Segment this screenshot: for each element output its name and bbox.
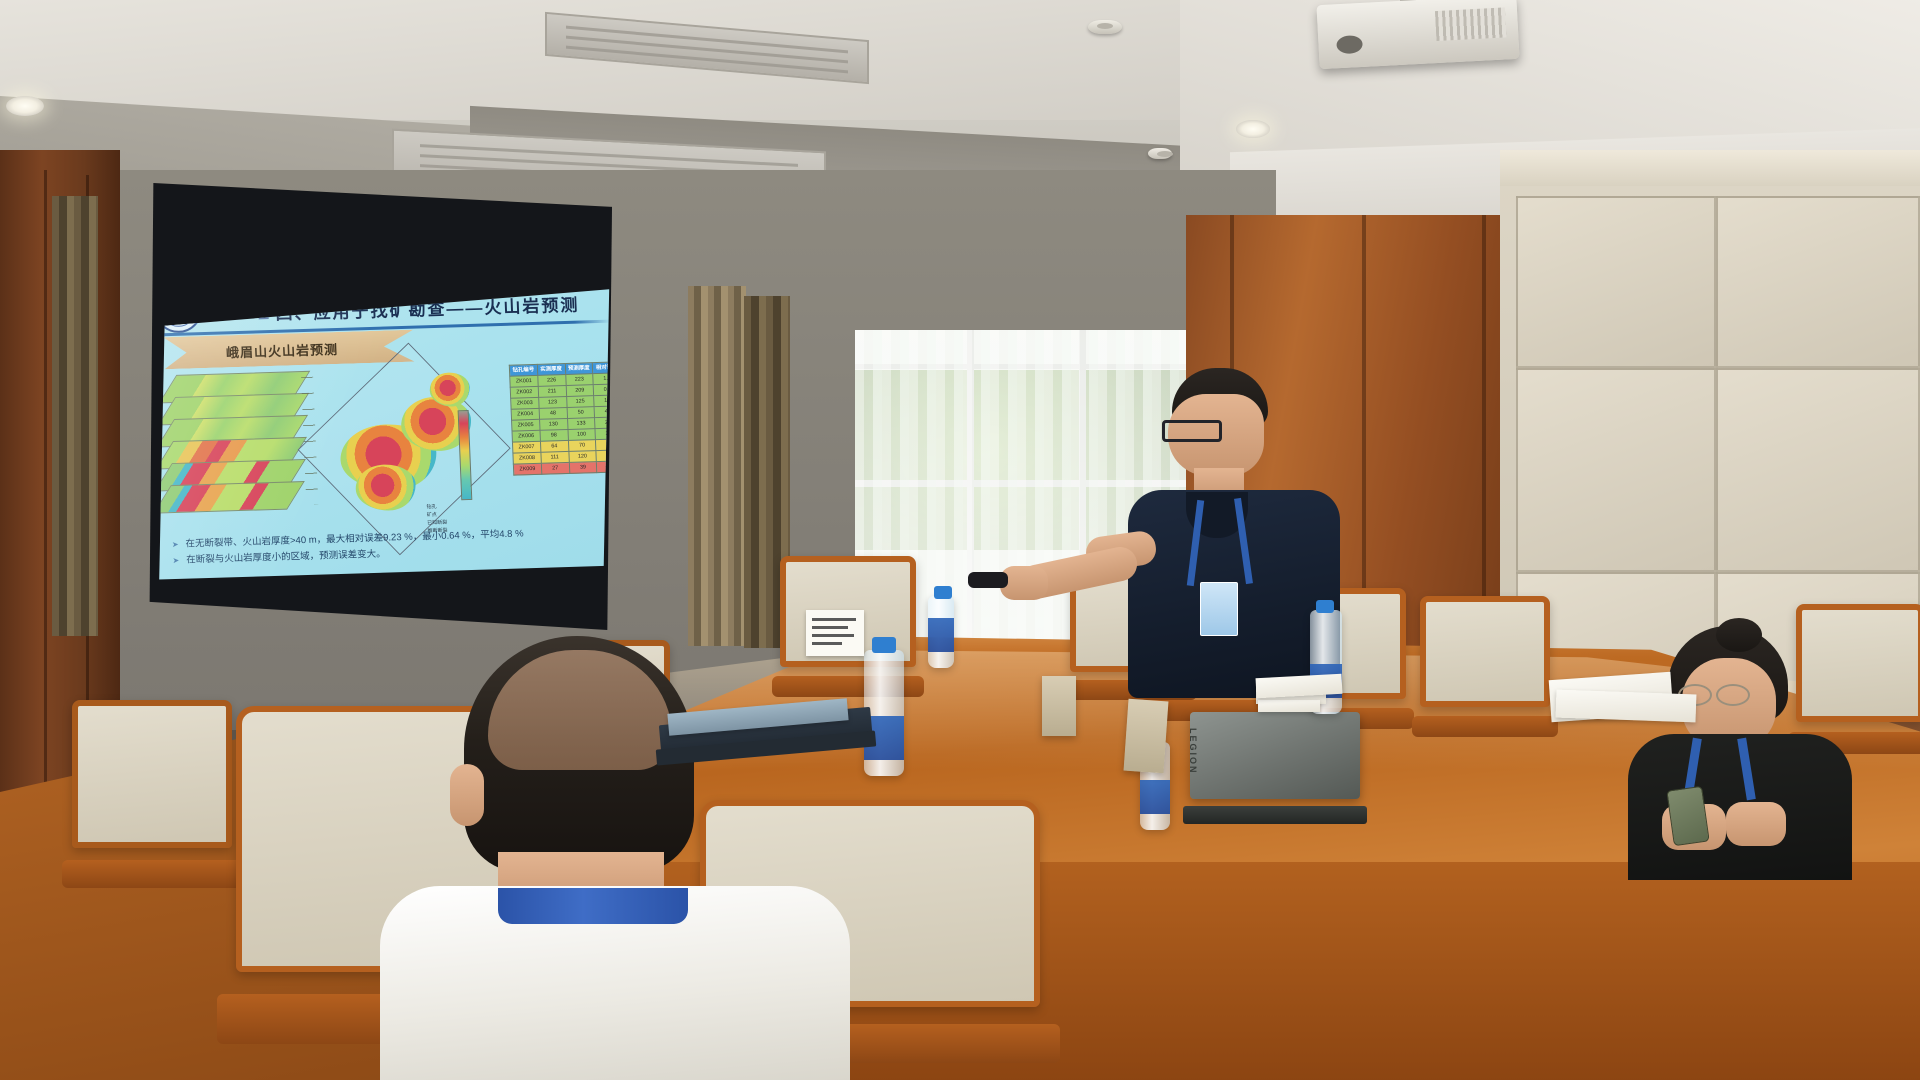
attendee-ear xyxy=(450,764,484,826)
chair-left-far xyxy=(72,700,232,900)
smoke-detector-icon xyxy=(1088,20,1122,34)
presenter-clicker[interactable] xyxy=(968,572,1008,588)
attendee-right xyxy=(1620,626,1880,876)
wall-panel-tile xyxy=(1716,368,1920,572)
glasses-icon xyxy=(1162,420,1222,442)
chair xyxy=(1420,596,1550,746)
bottle-cap xyxy=(1316,600,1334,613)
curtain-left xyxy=(52,196,98,636)
document-folder xyxy=(1042,676,1076,736)
bottle-cap xyxy=(934,586,952,599)
curtain-mid xyxy=(688,286,746,646)
laptop-lid: LEGION xyxy=(1190,712,1360,799)
presenter-badge xyxy=(1200,582,1238,636)
hair-bun xyxy=(1716,618,1762,652)
laptop-base xyxy=(1183,806,1367,824)
wall-panel-tile xyxy=(1516,368,1716,572)
wall-panel-tile xyxy=(1516,196,1716,368)
ceiling-projector xyxy=(1316,0,1519,69)
panel-trim xyxy=(1500,150,1920,186)
attendee-right-hand xyxy=(1726,802,1786,846)
attendee-foreground xyxy=(390,636,830,1080)
paper-stack xyxy=(1258,700,1320,712)
bottle-label xyxy=(928,618,954,652)
bottle-cap xyxy=(872,637,896,653)
ceiling-downlight xyxy=(6,96,44,116)
water-bottle[interactable] xyxy=(928,596,954,668)
conference-room-scene: 中 四、应用于找矿勘查——火山岩预测 峨眉山火山岩预测 xyxy=(0,0,1920,1080)
laptop-brand-label: LEGION xyxy=(1188,728,1198,775)
ceiling-downlight xyxy=(1236,120,1270,138)
paper-stack xyxy=(1556,690,1697,723)
attendee-lanyard xyxy=(498,888,688,924)
wall-seam xyxy=(44,170,47,870)
projector-vent xyxy=(1435,7,1506,41)
name-card-stand xyxy=(806,610,864,656)
projection-screen: 中 四、应用于找矿勘查——火山岩预测 峨眉山火山岩预测 xyxy=(144,176,612,644)
smoke-detector-icon xyxy=(1148,148,1172,159)
bottle-label xyxy=(1140,780,1170,814)
smartphone[interactable] xyxy=(1666,786,1709,846)
projector-lens-icon xyxy=(1336,35,1363,54)
glasses-icon xyxy=(1716,684,1750,706)
laptop[interactable]: LEGION xyxy=(1190,712,1360,824)
document-folder xyxy=(1124,699,1169,774)
wall-panel-tile xyxy=(1716,196,1920,368)
